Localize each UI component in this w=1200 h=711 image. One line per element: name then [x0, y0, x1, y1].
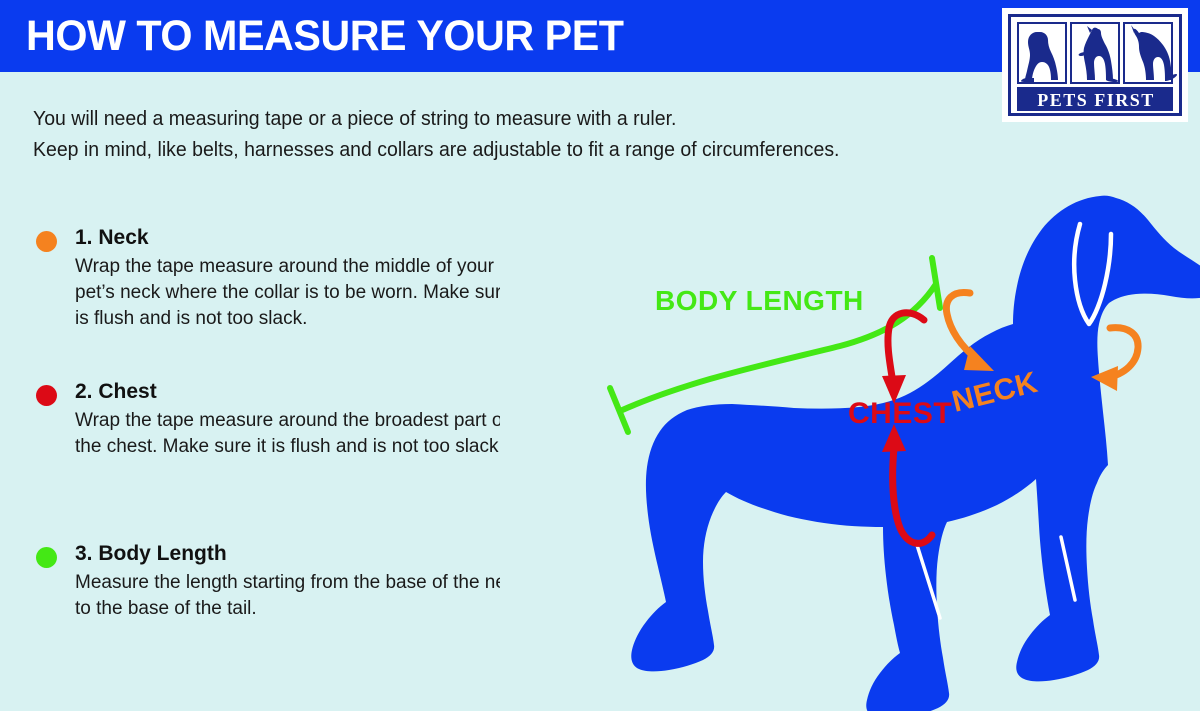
logo-panel-dog-shepherd — [1123, 22, 1173, 84]
infographic-page: HOW TO MEASURE YOUR PET — [0, 0, 1200, 711]
logo-banner: PETS FIRST — [1017, 87, 1173, 111]
step-body-length-body: Measure the length starting from the bas… — [75, 570, 535, 622]
step-body-length: 3. Body Length Measure the length starti… — [33, 541, 533, 622]
brand-logo: PETS FIRST — [1002, 8, 1188, 122]
intro-line-1: You will need a measuring tape or a piec… — [33, 103, 964, 134]
step-body-length-title: 3. Body Length — [75, 541, 533, 567]
step-neck-title: 1. Neck — [75, 225, 533, 251]
step-neck-body: Wrap the tape measure around the middle … — [75, 254, 535, 332]
logo-text: PETS FIRST — [1018, 88, 1174, 112]
step-chest-title: 2. Chest — [75, 379, 533, 405]
bullet-chest — [36, 385, 57, 406]
chest-label: CHEST — [848, 397, 952, 430]
dog-illustration — [500, 180, 1200, 711]
intro-text: You will need a measuring tape or a piec… — [33, 103, 964, 165]
logo-frame: PETS FIRST — [1008, 14, 1182, 116]
bullet-neck — [36, 231, 57, 252]
bullet-body-length — [36, 547, 57, 568]
intro-line-2: Keep in mind, like belts, harnesses and … — [33, 134, 964, 165]
logo-panel-dog-sitting — [1017, 22, 1067, 84]
step-chest: 2. Chest Wrap the tape measure around th… — [33, 379, 533, 460]
step-chest-body: Wrap the tape measure around the broades… — [75, 408, 535, 460]
page-title: HOW TO MEASURE YOUR PET — [26, 11, 624, 61]
body-length-label: BODY LENGTH — [655, 285, 864, 316]
step-neck: 1. Neck Wrap the tape measure around the… — [33, 225, 533, 332]
logo-panel-dog-howling — [1070, 22, 1120, 84]
dog-measurement-diagram: BODY LENGTH NECK CHEST — [500, 180, 1200, 711]
